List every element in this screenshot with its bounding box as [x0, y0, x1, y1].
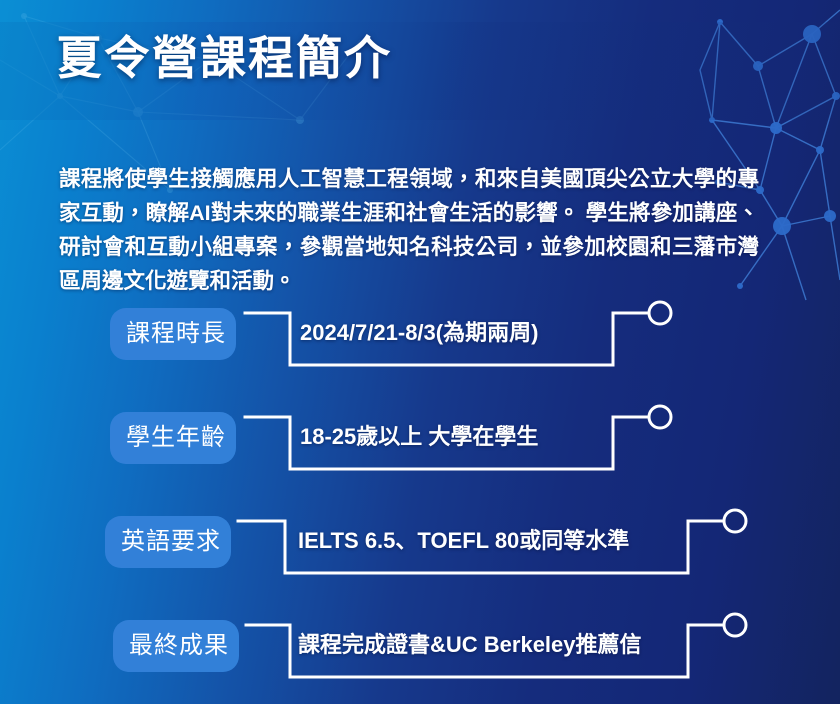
info-row-value: 課程完成證書&UC Berkeley推薦信 [298, 622, 642, 668]
info-row-value: 18-25歲以上 大學在學生 [300, 414, 538, 460]
page-title: 夏令營課程簡介 [56, 29, 392, 87]
info-row-value: 2024/7/21-8/3(為期兩周) [300, 310, 538, 356]
info-row-label: 學生年齡 [110, 412, 236, 464]
info-row-label: 最終成果 [113, 620, 239, 672]
info-rows: 課程時長 2024/7/21-8/3(為期兩周) 學生年齡 18-25歲以上 大… [0, 296, 840, 704]
info-row: 課程時長 2024/7/21-8/3(為期兩周) [0, 296, 840, 382]
poster-root: 夏令營課程簡介 課程將使學生接觸應用人工智慧工程領域，和來自美國頂尖公立大學的專… [0, 0, 840, 704]
info-row: 英語要求 IELTS 6.5、TOEFL 80或同等水準 [0, 504, 840, 590]
info-row-label: 課程時長 [110, 308, 236, 360]
info-row-value: IELTS 6.5、TOEFL 80或同等水準 [298, 518, 629, 564]
info-row-label: 英語要求 [105, 516, 231, 568]
info-row: 最終成果 課程完成證書&UC Berkeley推薦信 [0, 608, 840, 694]
info-row: 學生年齡 18-25歲以上 大學在學生 [0, 400, 840, 486]
intro-paragraph: 課程將使學生接觸應用人工智慧工程領域，和來自美國頂尖公立大學的專家互動，瞭解AI… [59, 162, 759, 298]
